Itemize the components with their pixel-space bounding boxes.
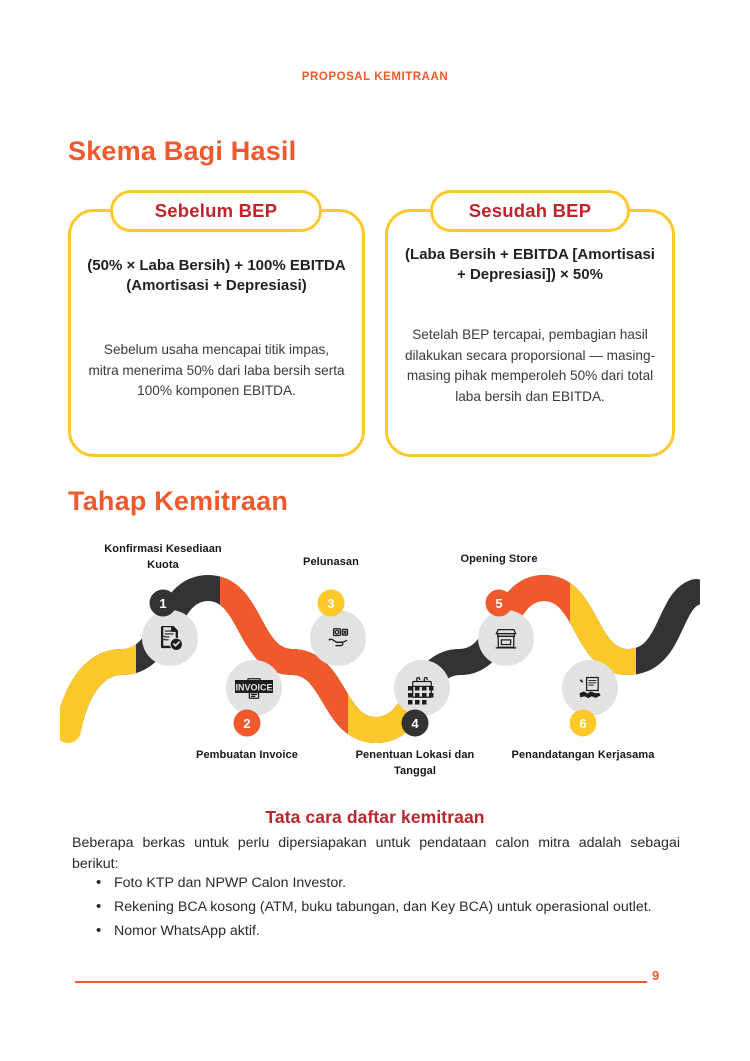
timeline-label-6: Penandatangan Kerjasama (508, 748, 658, 764)
timeline-badge-3: 3 (318, 590, 345, 617)
bep-description-sesudah: Setelah BEP tercapai, pembagian hasil di… (404, 325, 656, 408)
timeline-label-1: Konfirmasi Kesediaan Kuota (88, 542, 238, 574)
bep-formula-sebelum: (50% × Laba Bersih) + 100% EBITDA (Amort… (85, 256, 348, 296)
howto-title: Tata cara daftar kemitraan (0, 807, 750, 828)
bep-formula-sesudah: (Laba Bersih + EBITDA [Amortisasi + Depr… (402, 245, 658, 285)
timeline-icon-2: INVOICE (226, 660, 282, 716)
document-header-label: PROPOSAL KEMITRAAN (0, 71, 750, 83)
timeline-badge-6: 6 (570, 710, 597, 737)
timeline-icon-1 (142, 610, 198, 666)
timeline-label-5: Opening Store (424, 552, 574, 568)
timeline-badge-2: 2 (234, 710, 261, 737)
proposal-page: PROPOSAL KEMITRAAN Skema Bagi Hasil (50%… (0, 0, 750, 1061)
svg-text:1: 1 (159, 596, 166, 611)
timeline-icon-4 (394, 660, 450, 716)
bep-description-sebelum: Sebelum usaha mencapai titik impas, mitr… (87, 340, 346, 402)
timeline-badge-4: 4 (402, 710, 429, 737)
timeline-icon-3 (310, 610, 366, 666)
section-title-tahap: Tahap Kemitraan (68, 486, 288, 517)
timeline-label-3: Pelunasan (256, 555, 406, 571)
partnership-timeline: INVOICE (60, 530, 700, 790)
svg-text:4: 4 (411, 716, 419, 731)
timeline-badge-5: 5 (486, 590, 513, 617)
svg-text:5: 5 (495, 596, 502, 611)
list-item: Foto KTP dan NPWP Calon Investor. (92, 873, 682, 894)
svg-text:6: 6 (579, 716, 586, 731)
bep-tab-sesudah: Sesudah BEP (430, 190, 630, 232)
timeline-label-4: Penentuan Lokasi dan Tanggal (340, 748, 490, 780)
timeline-icon-6 (562, 660, 618, 716)
timeline-label-2: Pembuatan Invoice (172, 748, 322, 764)
svg-text:3: 3 (327, 596, 334, 611)
bep-tab-label-sebelum: Sebelum BEP (155, 200, 278, 222)
section-title-skema: Skema Bagi Hasil (68, 136, 296, 167)
page-number: 9 (652, 968, 659, 983)
howto-list: Foto KTP dan NPWP Calon Investor. Rekeni… (92, 873, 682, 945)
bep-tab-label-sesudah: Sesudah BEP (469, 200, 592, 222)
svg-text:2: 2 (243, 716, 250, 731)
bep-tab-sebelum: Sebelum BEP (110, 190, 322, 232)
list-item: Nomor WhatsApp aktif. (92, 921, 682, 942)
howto-intro: Beberapa berkas untuk perlu dipersiapaka… (72, 833, 680, 875)
svg-text:INVOICE: INVOICE (235, 683, 272, 693)
timeline-icon-5 (478, 610, 534, 666)
bep-card-sesudah: (Laba Bersih + EBITDA [Amortisasi + Depr… (385, 209, 675, 457)
bep-card-sebelum: (50% × Laba Bersih) + 100% EBITDA (Amort… (68, 209, 365, 457)
timeline-badge-1: 1 (150, 590, 177, 617)
footer-divider (75, 981, 647, 983)
list-item: Rekening BCA kosong (ATM, buku tabungan,… (92, 897, 682, 918)
